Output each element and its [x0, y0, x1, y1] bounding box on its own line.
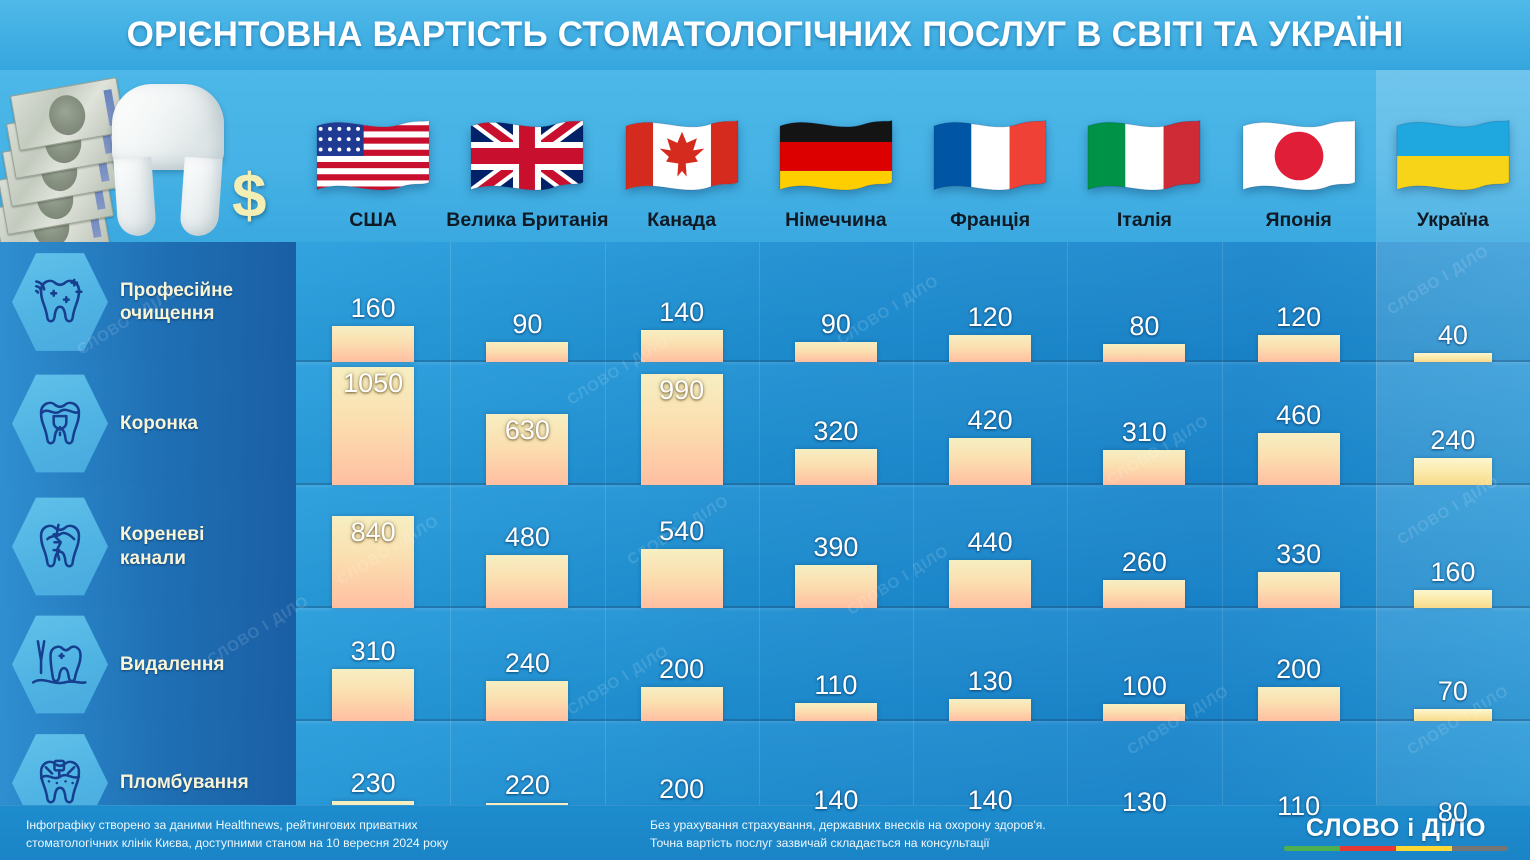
data-row-3: Кореневіканали840480540390440260330160	[0, 485, 1530, 608]
footer-note-source: Інфографіку створено за даними Healthnew…	[26, 817, 448, 852]
logo-color-bar	[1396, 846, 1452, 851]
country-header-5: Франція	[913, 70, 1067, 242]
bar-cell-r1-c2[interactable]: 90	[450, 245, 604, 362]
bar-cell-r4-c8[interactable]: 70	[1376, 611, 1530, 721]
logo-color-bar	[1340, 846, 1396, 851]
bar-value-label: 130	[968, 668, 1013, 695]
bar-cell-r4-c7[interactable]: 200	[1222, 611, 1376, 721]
ukraine-flag	[1391, 113, 1515, 199]
logo-color-bar	[1452, 846, 1508, 851]
bar-cell-r1-c6[interactable]: 80	[1067, 245, 1221, 362]
germany-flag	[774, 113, 898, 199]
title-bar: ОРІЄНТОВНА ВАРТІСТЬ СТОМАТОЛОГІЧНИХ ПОСЛ…	[0, 0, 1530, 70]
row-label: Видалення	[120, 653, 224, 676]
bar-value-label: 160	[351, 295, 396, 322]
bar-value-label: 540	[659, 518, 704, 545]
country-label: Італія	[1117, 209, 1172, 232]
bar-value-label: 120	[1276, 304, 1321, 331]
bar	[486, 555, 568, 608]
tooth-model-icon	[112, 84, 224, 234]
country-header-2: Велика Британія	[450, 70, 604, 242]
bar	[641, 687, 723, 721]
bar-value-label: 200	[1276, 656, 1321, 683]
bar-value-label: 200	[659, 656, 704, 683]
bar	[1414, 458, 1492, 485]
tooth-crown-icon	[12, 372, 108, 476]
bar	[1414, 709, 1492, 721]
country-label: Канада	[647, 209, 716, 232]
row-label: Кореневіканали	[120, 523, 204, 569]
bar	[486, 342, 568, 362]
bar	[949, 560, 1031, 608]
bar-value-label: 100	[1122, 673, 1167, 700]
bar-cell-r3-c6[interactable]: 260	[1067, 488, 1221, 608]
bar	[795, 565, 877, 608]
bar-cell-r4-c1[interactable]: 310	[296, 611, 450, 721]
footer-note-disclaimer: Без урахування страхування, державних вн…	[650, 817, 1046, 852]
data-row-1: Професійнеочищення16090140901208012040	[0, 242, 1530, 362]
bar-value-label: 460	[1276, 402, 1321, 429]
bar-cell-r1-c3[interactable]: 140	[605, 245, 759, 362]
bar-value-label: 80	[1129, 313, 1159, 340]
bar-value-label: 440	[968, 529, 1013, 556]
bar-cell-r2-c5[interactable]: 420	[913, 365, 1067, 485]
country-header-6: Італія	[1067, 70, 1221, 242]
tooth-cleaning-icon	[12, 250, 108, 354]
root-canal-icon	[12, 495, 108, 599]
brand-logo[interactable]: СЛОВО і ДіЛО	[1284, 816, 1508, 851]
bar-cell-r4-c2[interactable]: 240	[450, 611, 604, 721]
bar-cell-r2-c3[interactable]: 990	[605, 365, 759, 485]
bar-value-label: 90	[512, 311, 542, 338]
country-header-1: США	[296, 70, 450, 242]
bar	[1414, 590, 1492, 608]
bar-value-label: 200	[659, 776, 704, 803]
bar-value-label: 260	[1122, 549, 1167, 576]
bar-cell-r2-c4[interactable]: 320	[759, 365, 913, 485]
bar-cell-r1-c4[interactable]: 90	[759, 245, 913, 362]
bar-value-label: 310	[351, 638, 396, 665]
row-label-panel-3[interactable]: Кореневіканали	[0, 485, 296, 608]
bar-value-label: 120	[968, 304, 1013, 331]
bar-cell-r1-c7[interactable]: 120	[1222, 245, 1376, 362]
bar-value-label: 110	[1277, 793, 1320, 820]
header-row: $ США Велика Британія Канада Німеччина	[0, 70, 1530, 242]
bar-value-label: 90	[821, 311, 851, 338]
bar	[332, 326, 414, 362]
bar	[1258, 687, 1340, 721]
bar-value-label: 330	[1276, 541, 1321, 568]
country-label: Україна	[1417, 209, 1489, 232]
bar-cell-r2-c7[interactable]: 460	[1222, 365, 1376, 485]
bar	[795, 449, 877, 485]
bar	[949, 438, 1031, 485]
canada-flag	[620, 113, 744, 199]
country-label: Велика Британія	[446, 209, 608, 232]
bar	[1258, 572, 1340, 608]
tooth-extraction-icon	[12, 613, 108, 717]
usa-flag	[311, 113, 435, 199]
bar	[1414, 353, 1492, 362]
bar-cell-r4-c6[interactable]: 100	[1067, 611, 1221, 721]
bar-cell-r1-c8[interactable]: 40	[1376, 245, 1530, 362]
data-row-4: Видалення31024020011013010020070	[0, 608, 1530, 721]
row-label: Пломбування	[120, 771, 249, 794]
bar-value-label: 420	[968, 407, 1013, 434]
country-header-3: Канада	[605, 70, 759, 242]
bar-cell-r1-c1[interactable]: 160	[296, 245, 450, 362]
bar-cell-r2-c2[interactable]: 630	[450, 365, 604, 485]
bar	[1258, 433, 1340, 485]
bar-value-label: 160	[1430, 559, 1475, 586]
bar-value-label: 140	[813, 787, 858, 814]
hero-illustration: $	[0, 70, 296, 242]
row-label-panel-4[interactable]: Видалення	[0, 608, 296, 721]
bar-value-label: 130	[1122, 789, 1167, 816]
country-label: Японія	[1265, 209, 1331, 232]
bar-value-label: 140	[659, 299, 704, 326]
country-header-4: Німеччина	[759, 70, 913, 242]
dollar-sign-icon: $	[232, 166, 266, 228]
bar-value-label: 40	[1438, 322, 1468, 349]
bar-cell-r4-c3[interactable]: 200	[605, 611, 759, 721]
bar	[1258, 335, 1340, 362]
row-label: Коронка	[120, 412, 198, 435]
bar-value-label: 240	[1430, 427, 1475, 454]
bar-cell-r2-c8[interactable]: 240	[1376, 365, 1530, 485]
country-label: США	[349, 209, 397, 232]
bar	[949, 335, 1031, 362]
bar	[1103, 704, 1185, 721]
bar	[795, 342, 877, 362]
bar	[641, 549, 723, 608]
bar	[795, 703, 877, 721]
bar-cell-r2-c6[interactable]: 310	[1067, 365, 1221, 485]
bar-value-label: 630	[505, 417, 550, 444]
bar-cell-r3-c4[interactable]: 390	[759, 488, 913, 608]
bar-cell-r3-c3[interactable]: 540	[605, 488, 759, 608]
bar-cell-r3-c2[interactable]: 480	[450, 488, 604, 608]
bar	[1103, 580, 1185, 608]
bar-cell-r3-c1[interactable]: 840	[296, 488, 450, 608]
bar	[332, 669, 414, 721]
page-title: ОРІЄНТОВНА ВАРТІСТЬ СТОМАТОЛОГІЧНИХ ПОСЛ…	[127, 15, 1404, 55]
uk-flag	[465, 113, 589, 199]
bar	[1103, 344, 1185, 362]
bar	[641, 330, 723, 362]
bar-value-label: 140	[968, 787, 1013, 814]
bar-cell-r4-c5[interactable]: 130	[913, 611, 1067, 721]
row-label-panel-1[interactable]: Професійнеочищення	[0, 242, 296, 362]
infographic-root: ОРІЄНТОВНА ВАРТІСТЬ СТОМАТОЛОГІЧНИХ ПОСЛ…	[0, 0, 1530, 860]
bar-value-label: 110	[814, 672, 857, 699]
bar	[1103, 450, 1185, 485]
bar-value-label: 990	[659, 377, 704, 404]
bar-cell-r4-c4[interactable]: 110	[759, 611, 913, 721]
bar	[486, 681, 568, 721]
bar-cell-r1-c5[interactable]: 120	[913, 245, 1067, 362]
row-label-panel-2[interactable]: Коронка	[0, 362, 296, 485]
data-row-2: Коронка1050630990320420310460240	[0, 362, 1530, 485]
bar-value-label: 480	[505, 524, 550, 551]
bar-value-label: 70	[1438, 678, 1468, 705]
country-label: Німеччина	[785, 209, 887, 232]
bar-value-label: 240	[505, 650, 550, 677]
bar-value-label: 390	[813, 534, 858, 561]
bar-cell-r3-c5[interactable]: 440	[913, 488, 1067, 608]
bar-value-label: 840	[351, 519, 396, 546]
bar-value-label: 320	[813, 418, 858, 445]
bar-cell-r3-c7[interactable]: 330	[1222, 488, 1376, 608]
country-header-8: Україна	[1376, 70, 1530, 242]
bar-value-label: 310	[1122, 419, 1167, 446]
bar-value-label: 220	[505, 772, 550, 799]
row-label: Професійнеочищення	[120, 279, 233, 325]
bar-value-label: 230	[351, 770, 396, 797]
brand-logo-color-bars	[1284, 846, 1508, 851]
country-header-7: Японія	[1222, 70, 1376, 242]
bar-cell-r3-c8[interactable]: 160	[1376, 488, 1530, 608]
bar	[949, 699, 1031, 721]
japan-flag	[1237, 113, 1361, 199]
bar-cell-r2-c1[interactable]: 1050	[296, 365, 450, 485]
country-label: Франція	[950, 209, 1030, 232]
bar-value-label: 80	[1438, 799, 1468, 826]
italy-flag	[1082, 113, 1206, 199]
logo-color-bar	[1284, 846, 1340, 851]
data-grid: Професійнеочищення16090140901208012040 К…	[0, 242, 1530, 805]
bar-value-label: 1050	[343, 370, 403, 397]
france-flag	[928, 113, 1052, 199]
